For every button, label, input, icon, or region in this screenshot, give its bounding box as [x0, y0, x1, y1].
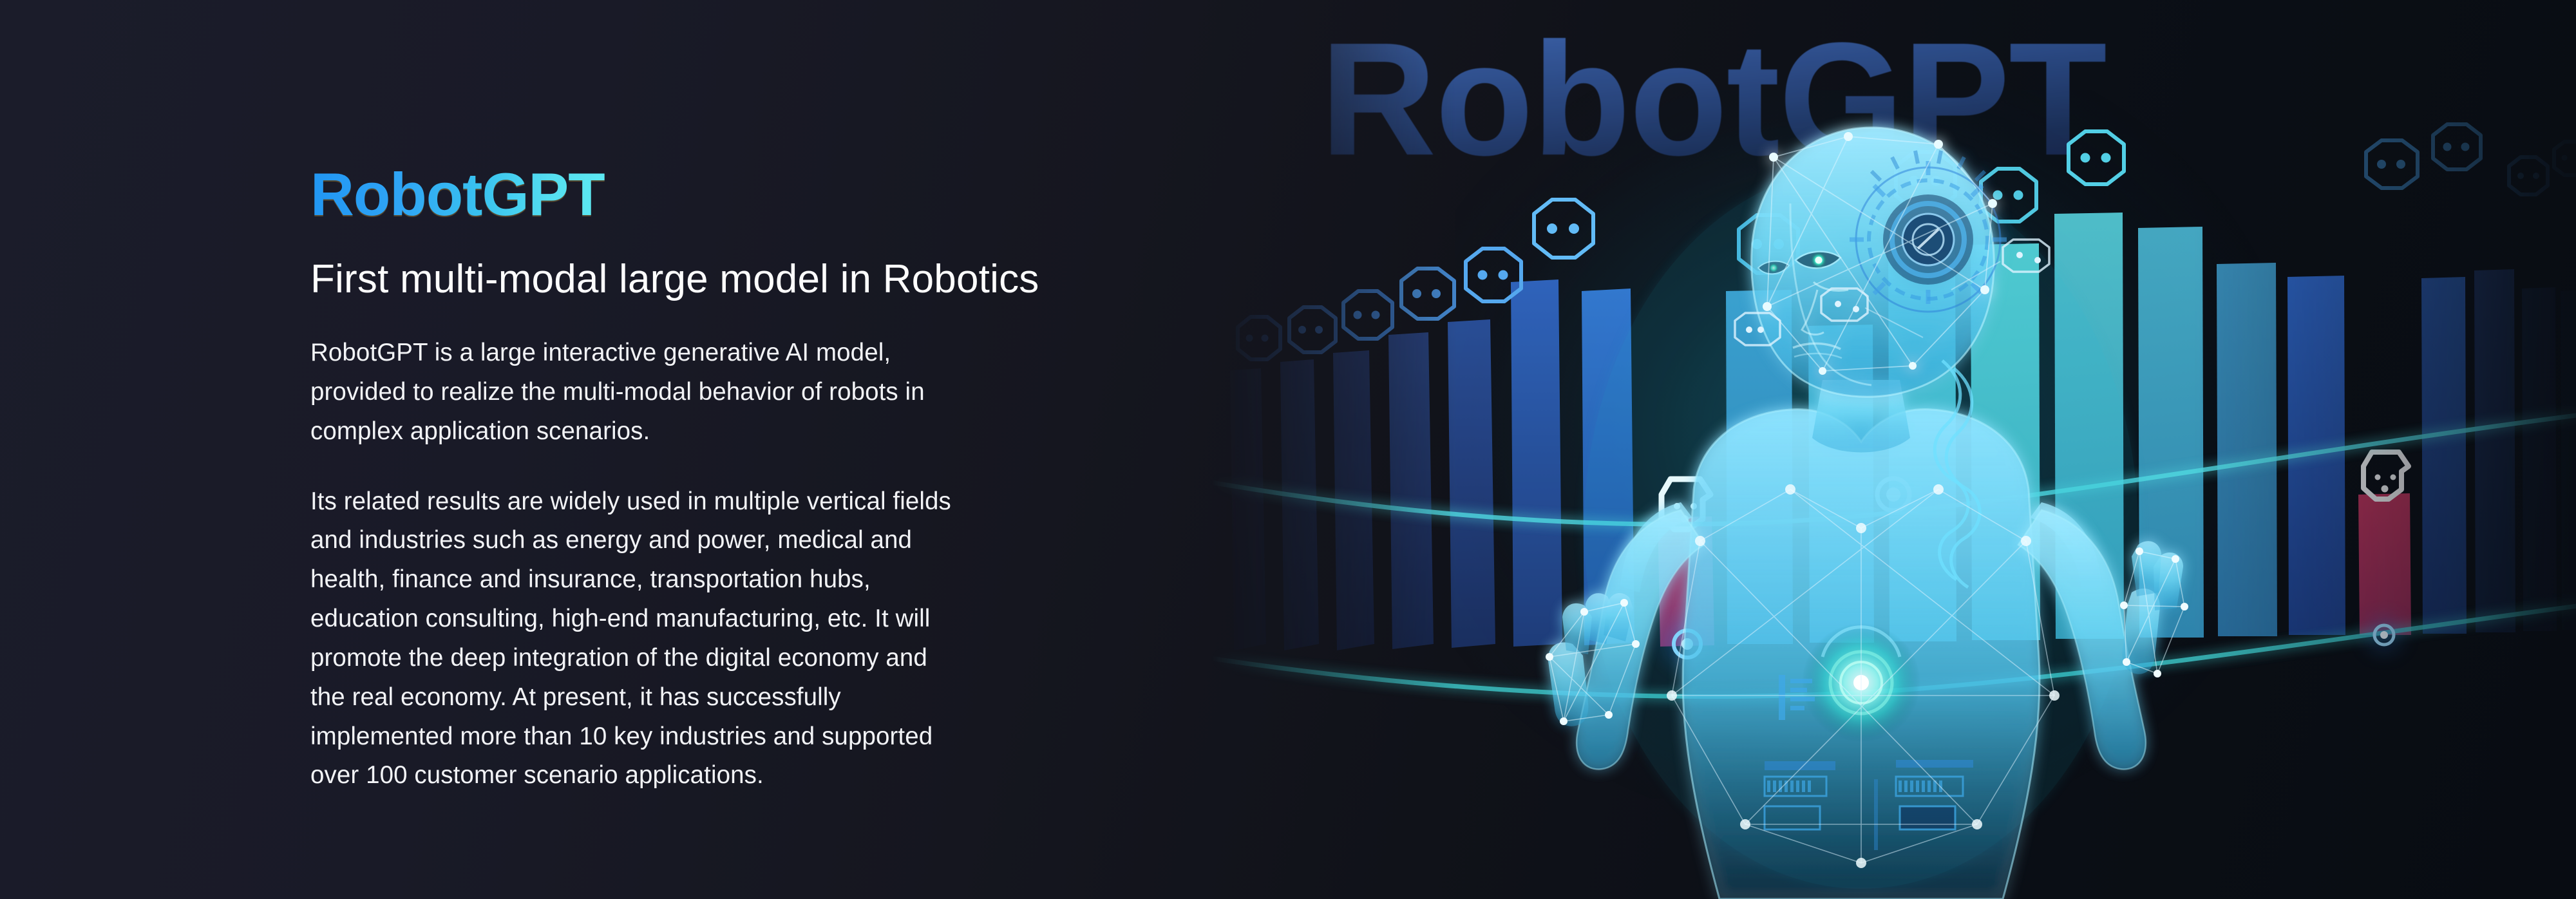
- bar: [1230, 368, 1266, 650]
- robot-head-hexagon-icon: [2509, 157, 2548, 194]
- brand-title: RobotGPT: [310, 164, 605, 225]
- bar: [2421, 277, 2467, 634]
- hero-tagline: First multi-modal large model in Robotic…: [310, 258, 1212, 300]
- human-head-icon: [2363, 452, 2409, 499]
- bar-highlight: [2358, 493, 2411, 635]
- hero-copy-block: RobotGPT First multi-modal large model i…: [310, 164, 1212, 795]
- robot-head-hexagon-icon: [1238, 317, 1280, 359]
- bar: [1388, 332, 1434, 649]
- hero-paragraph-2: Its related results are widely used in m…: [310, 482, 967, 796]
- robot-head-hexagon-icon: [1343, 291, 1392, 339]
- bar: [1280, 359, 1319, 650]
- robot-head-hexagon-icon: [2366, 140, 2418, 188]
- robot-figure: [1488, 77, 2235, 899]
- robot-head-hexagon-icon: [1289, 307, 1336, 352]
- bar: [2474, 269, 2515, 632]
- hero-artwork: RobotGPT: [1211, 0, 2576, 899]
- robot-head-hexagon-icon: [2433, 124, 2481, 169]
- hero-banner: RobotGPT: [0, 0, 2576, 899]
- hero-paragraph-1: RobotGPT is a large interactive generati…: [310, 334, 967, 451]
- bar: [2522, 287, 2557, 631]
- robot-head-hexagon-icon: [2554, 142, 2576, 175]
- bar: [2561, 290, 2576, 630]
- node-pulse-icon: [2367, 618, 2401, 652]
- robot-head-hexagon-icon: [1401, 269, 1454, 319]
